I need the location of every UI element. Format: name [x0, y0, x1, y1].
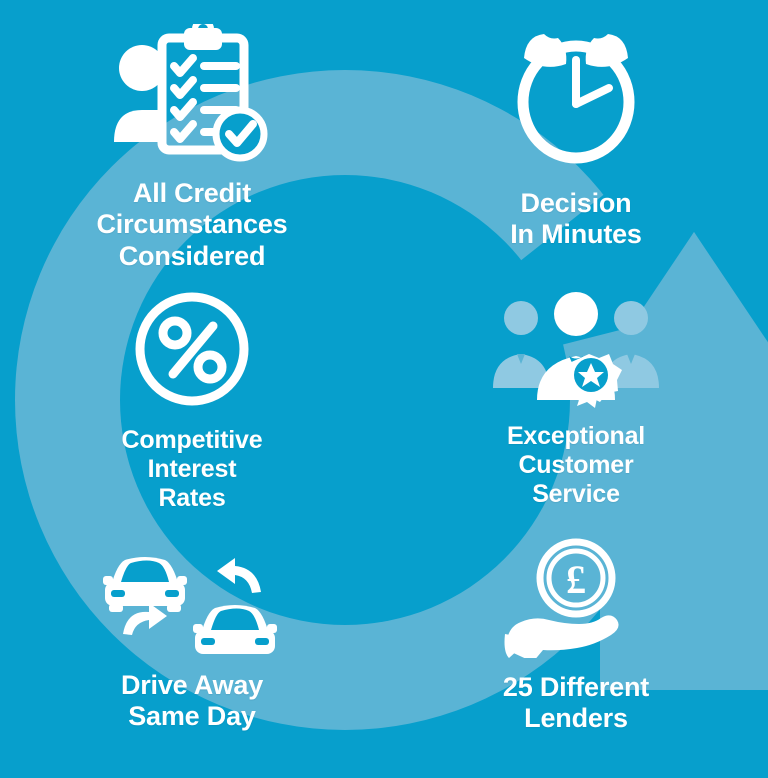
feature-all-credit-circumstances-considered[interactable]: All Credit Circumstances Considered	[0, 0, 384, 278]
feature-decision-in-minutes[interactable]: Decision In Minutes	[384, 0, 768, 278]
feature-grid: All Credit Circumstances Considered Deci…	[0, 0, 768, 778]
feature-label: Competitive Interest Rates	[122, 426, 263, 513]
feature-exceptional-customer-service[interactable]: Exceptional Customer Service	[384, 278, 768, 528]
percent-circle-icon	[131, 288, 253, 410]
feature-label: Drive Away Same Day	[121, 670, 263, 733]
feature-label: 25 Different Lenders	[503, 672, 649, 735]
clipboard-checklist-person-icon	[106, 24, 278, 164]
feature-label: Exceptional Customer Service	[507, 422, 645, 509]
infographic-root: All Credit Circumstances Considered Deci…	[0, 0, 768, 778]
alarm-clock-icon	[506, 24, 646, 164]
two-cars-exchange-arrows-icon	[103, 538, 281, 658]
hand-holding-pound-coin-icon: £	[501, 538, 651, 658]
feature-competitive-interest-rates[interactable]: Competitive Interest Rates	[0, 278, 384, 528]
feature-drive-away-same-day[interactable]: Drive Away Same Day	[0, 528, 384, 778]
feature-label: All Credit Circumstances Considered	[97, 178, 288, 272]
feature-25-different-lenders[interactable]: £ 25 Different Lenders	[384, 528, 768, 778]
people-award-ribbon-icon	[491, 288, 661, 408]
svg-text:£: £	[566, 557, 586, 602]
feature-label: Decision In Minutes	[510, 188, 642, 251]
